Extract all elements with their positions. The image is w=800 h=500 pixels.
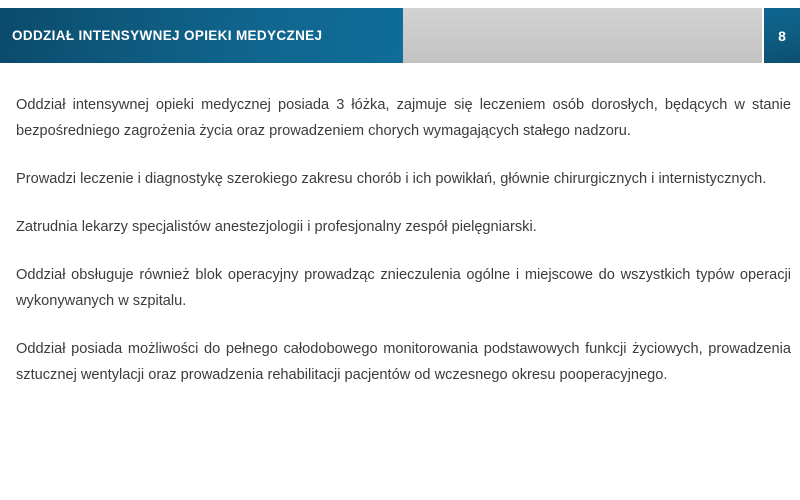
page-title: ODDZIAŁ INTENSYWNEJ OPIEKI MEDYCZNEJ	[12, 29, 322, 43]
page-number: 8	[778, 29, 786, 43]
paragraph-4: Oddział obsługuje również blok operacyjn…	[16, 262, 791, 314]
header-title-bar: ODDZIAŁ INTENSYWNEJ OPIEKI MEDYCZNEJ	[0, 8, 403, 63]
slide-page: ODDZIAŁ INTENSYWNEJ OPIEKI MEDYCZNEJ 8 O…	[0, 0, 800, 500]
paragraph-1: Oddział intensywnej opieki medycznej pos…	[16, 92, 791, 144]
paragraph-5: Oddział posiada możliwości do pełnego ca…	[16, 336, 791, 388]
header-gray-band	[403, 8, 762, 63]
paragraph-3: Zatrudnia lekarzy specjalistów anestezjo…	[16, 214, 791, 240]
page-number-box: 8	[764, 8, 800, 63]
paragraph-2: Prowadzi leczenie i diagnostykę szerokie…	[16, 166, 791, 192]
page-header: ODDZIAŁ INTENSYWNEJ OPIEKI MEDYCZNEJ 8	[0, 8, 800, 63]
document-body: Oddział intensywnej opieki medycznej pos…	[16, 92, 791, 388]
